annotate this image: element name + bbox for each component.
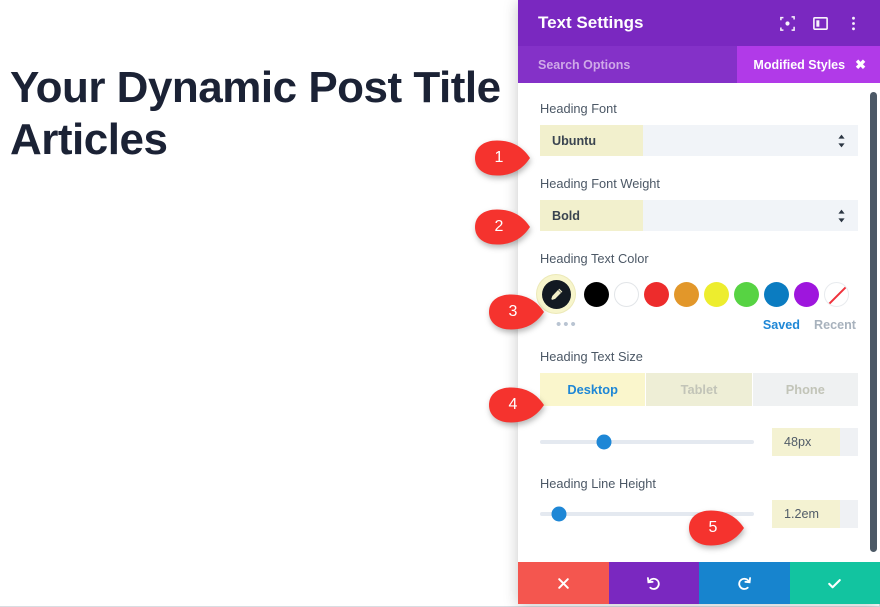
modal-footer (518, 562, 880, 604)
modified-styles-label: Modified Styles (753, 58, 845, 72)
heading-font-select[interactable]: Ubuntu (540, 125, 858, 156)
heading-font-weight-select[interactable]: Bold (540, 200, 858, 231)
heading-font-weight-value: Bold (540, 209, 580, 223)
phone-tab[interactable]: Phone (753, 373, 858, 406)
swatch-dot (704, 282, 729, 307)
redo-icon (736, 575, 753, 592)
swatch-dot (644, 282, 669, 307)
close-icon (556, 576, 571, 591)
swatch-dot (764, 282, 789, 307)
heading-font-label: Heading Font (540, 101, 858, 116)
callout-1: 1 (471, 138, 533, 178)
responsive-tabs: Desktop Tablet Phone (540, 373, 858, 406)
text-size-slider-row: 48px (540, 428, 858, 456)
swatch-dot (614, 282, 639, 307)
callout-5-number: 5 (701, 508, 725, 548)
heading-text-size-label: Heading Text Size (540, 349, 858, 364)
color-swatch-footer: ••• Saved Recent (540, 316, 858, 333)
callout-2: 2 (471, 207, 533, 247)
page-title: Your Dynamic Post Title Articles (10, 62, 510, 166)
page-canvas: Your Dynamic Post Title Articles Text Se… (0, 0, 880, 607)
modal-title: Text Settings (538, 13, 779, 33)
heading-line-height-label: Heading Line Height (540, 476, 858, 491)
line-height-value: 1.2em (772, 507, 819, 521)
swatch-dot (794, 282, 819, 307)
heading-font-value: Ubuntu (540, 134, 596, 148)
slider-handle[interactable] (552, 507, 567, 522)
cancel-button[interactable] (518, 562, 609, 604)
callout-4-number: 4 (501, 385, 525, 425)
swatch-transparent[interactable] (821, 279, 851, 309)
swatch-yellow[interactable] (701, 279, 731, 309)
modified-styles-badge[interactable]: Modified Styles ✖ (737, 46, 880, 83)
palette-tabs: Saved Recent (763, 318, 856, 332)
tab-saved-colors[interactable]: Saved (763, 318, 800, 332)
more-vertical-icon[interactable] (845, 15, 862, 32)
callout-5: 5 (685, 508, 747, 548)
focus-target-icon[interactable] (779, 15, 796, 32)
undo-icon (645, 575, 662, 592)
save-button[interactable] (790, 562, 880, 604)
tab-recent-colors[interactable]: Recent (814, 318, 856, 332)
text-size-value-input[interactable]: 48px (772, 428, 858, 456)
modal-body: Heading Font Ubuntu Heading Font Weight (518, 83, 880, 562)
redo-button[interactable] (699, 562, 790, 604)
layout-panel-icon[interactable] (812, 15, 829, 32)
field-heading-text-color: Heading Text Color (540, 251, 858, 333)
swatch-dot (824, 282, 849, 307)
swatch-dot (584, 282, 609, 307)
desktop-tab[interactable]: Desktop (540, 373, 646, 406)
modal-header: Text Settings (518, 0, 880, 46)
slider-handle[interactable] (597, 435, 612, 450)
search-input[interactable]: Search Options (538, 58, 630, 72)
callout-1-number: 1 (487, 138, 511, 178)
swatch-dot (674, 282, 699, 307)
field-heading-font-weight: Heading Font Weight Bold (540, 176, 858, 231)
callout-4: 4 (485, 385, 547, 425)
heading-text-color-label: Heading Text Color (540, 251, 858, 266)
callout-3-number: 3 (501, 292, 525, 332)
callout-3: 3 (485, 292, 547, 332)
close-icon[interactable]: ✖ (855, 57, 866, 73)
modal-header-actions (779, 15, 862, 32)
line-height-value-input[interactable]: 1.2em (772, 500, 858, 528)
undo-button[interactable] (609, 562, 700, 604)
swatch-white[interactable] (611, 279, 641, 309)
tablet-tab[interactable]: Tablet (646, 373, 752, 406)
search-row[interactable]: Search Options Modified Styles ✖ (518, 46, 880, 83)
color-swatch-row (540, 275, 858, 313)
field-heading-font: Heading Font Ubuntu (540, 101, 858, 156)
field-heading-text-size: Heading Text Size Desktop Tablet Phone 4… (540, 349, 858, 456)
callout-2-number: 2 (487, 207, 511, 247)
swatch-blue[interactable] (761, 279, 791, 309)
swatch-red[interactable] (641, 279, 671, 309)
chevron-updown-icon[interactable] (837, 134, 846, 148)
swatch-purple[interactable] (791, 279, 821, 309)
chevron-updown-icon[interactable] (837, 209, 846, 223)
swatch-green[interactable] (731, 279, 761, 309)
text-size-value: 48px (772, 435, 811, 449)
swatch-black[interactable] (581, 279, 611, 309)
swatch-orange[interactable] (671, 279, 701, 309)
heading-font-weight-label: Heading Font Weight (540, 176, 858, 191)
check-icon (826, 575, 843, 592)
swatch-dot (734, 282, 759, 307)
text-size-slider[interactable] (540, 440, 754, 444)
panel-scrollbar[interactable] (870, 92, 877, 552)
